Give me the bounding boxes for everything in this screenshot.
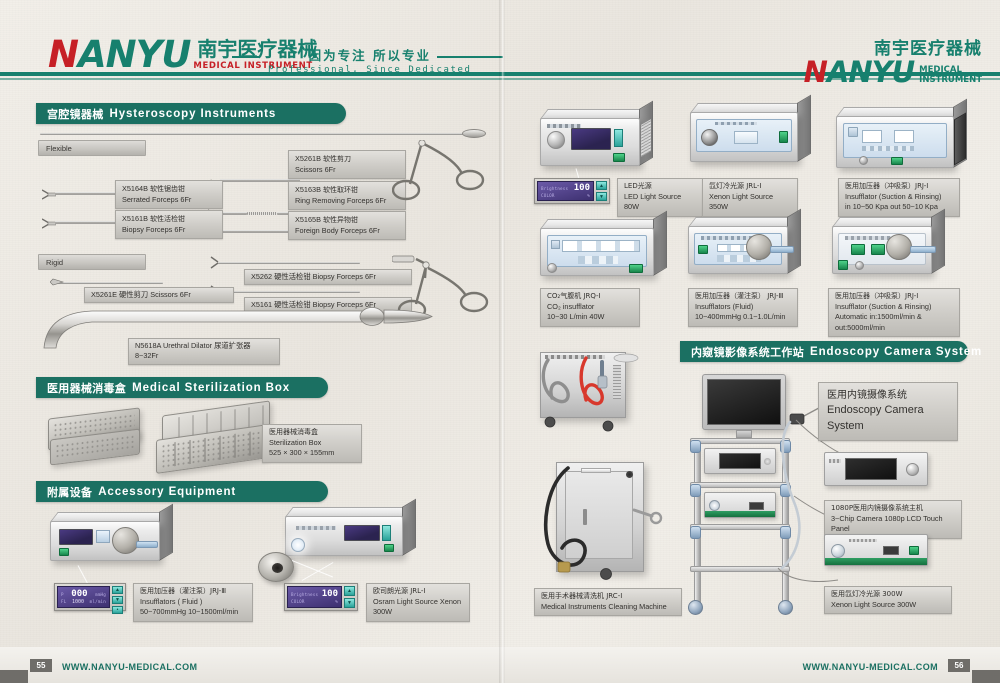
label-x5163b-cn: 软性取环钳 bbox=[323, 186, 358, 194]
page-spine bbox=[499, 0, 505, 683]
display-fluid-line2: FL 1000 ml/min bbox=[61, 599, 106, 605]
section-camera-cn: 内窥镜影像系统工作站 bbox=[691, 344, 804, 360]
unit-fluid-insufflator-keypad bbox=[96, 530, 110, 543]
label-x5164b-code: X5164B bbox=[122, 184, 148, 193]
brand-wordmark-n: N bbox=[48, 33, 78, 76]
label-x5163b: X5163B 软性取环钳 Ring Removing Forceps 6Fr bbox=[288, 181, 406, 210]
label-sterilization-box: 医用器械消毒盒 Sterilization Box 525 × 300 × 15… bbox=[262, 424, 362, 463]
trolley-clamp-1l bbox=[690, 440, 701, 453]
trolley-ccu-screen bbox=[719, 453, 761, 469]
section-accessory-cn: 附属设备 bbox=[47, 484, 92, 500]
rigid-scissors-tip-icon bbox=[50, 277, 64, 288]
label-led-light-source: LED光源 LED Light Source 80W bbox=[617, 178, 709, 217]
label-n5618a: N5618A Urethral Dilator 尿道扩张器 8~32Fr bbox=[128, 338, 280, 365]
brand-slogan: 因为专注 所以专业 Professional, Since Dedicated bbox=[268, 45, 472, 75]
forceps-jaw-icon bbox=[42, 189, 56, 201]
label-x5161b-cn: 软性活检钳 bbox=[150, 215, 185, 223]
display-fluid-key-down[interactable]: ▼ bbox=[112, 596, 123, 604]
product-xenon-branding bbox=[849, 539, 877, 542]
footer-bar-left bbox=[0, 670, 28, 683]
display-fluid-insufflator: P 000 mmHg FL 1000 ml/min ▲ ▼ • bbox=[54, 583, 126, 611]
label-fluid-insufflator-2: 医用加压器（灌注泵） JRJ-Ⅲ Insufflators (Fluid) 10… bbox=[688, 288, 798, 327]
label-x5261b-code: X5261B bbox=[295, 154, 321, 163]
flexible-instrument-tip bbox=[462, 129, 486, 138]
unit-osram-screen bbox=[344, 525, 380, 541]
unit-co2-insufflator bbox=[540, 228, 654, 276]
flexible-instrument-shaft bbox=[40, 133, 470, 135]
label-x5161b: X5161B 软性活检钳 Biopsy Forceps 6Fr bbox=[115, 210, 223, 239]
unit-insuff1-rear-panel bbox=[954, 113, 966, 166]
display-fluid-unit1: mmHg bbox=[95, 592, 106, 597]
group-tag-flexible: Flexible bbox=[38, 140, 146, 156]
slogan-dash-left bbox=[232, 56, 260, 58]
label-cleaning-machine: 医用手术器械清洗机 JRC-Ⅰ Medical Instruments Clea… bbox=[534, 588, 682, 616]
label-x5164b: X5164B 软性锯齿钳 Serrated Forceps 6Fr bbox=[115, 180, 223, 209]
label-fluid-insufflator-spec: 50~700mmHg 10~1500ml/min bbox=[140, 607, 246, 617]
label-camera-system-en: Endoscopy Camera System bbox=[827, 403, 949, 434]
display-osram-label1: Brightness bbox=[291, 592, 318, 597]
label-x5165b-code: X5165B bbox=[295, 215, 321, 224]
unit-osram-power-button[interactable] bbox=[384, 544, 394, 552]
trolley-monitor-stand bbox=[736, 430, 752, 438]
unit-led-keypad[interactable] bbox=[614, 129, 623, 147]
unit-xenon-side bbox=[797, 95, 811, 162]
label-cleaning-machine-cn: 医用手术器械清洗机 JRC-Ⅰ bbox=[541, 592, 675, 602]
label-x5165b-line2: Foreign Body Forceps 6Fr bbox=[295, 226, 399, 236]
label-co2-en: CO₂ insufflator bbox=[547, 302, 633, 312]
unit-co2-power-button[interactable] bbox=[629, 264, 643, 273]
light-guide-lens-aperture bbox=[272, 563, 283, 573]
unit-insufflator-suction-rinsing-1 bbox=[836, 116, 954, 168]
footer-url-left[interactable]: WWW.NANYU-MEDICAL.COM bbox=[62, 662, 197, 672]
label-fluid2-en: Insufflators (Fluid) bbox=[695, 302, 791, 312]
unit-insuff2-tube-connector bbox=[910, 246, 936, 253]
display-fluid-keypad[interactable]: ▲ ▼ • bbox=[112, 586, 123, 608]
product-camera-control-unit bbox=[824, 452, 928, 486]
sterilization-box-perforation-base bbox=[55, 434, 135, 460]
trolley-light-source-port bbox=[709, 500, 720, 511]
unit-fluid-insufflator-2 bbox=[688, 226, 788, 274]
brand-medical-instrument-right: MEDICAL INSTRUMENT bbox=[919, 66, 982, 86]
unit-xenon-light-source bbox=[690, 112, 798, 162]
label-x5261b: X5261B 软性剪刀 Scissors 6Fr bbox=[288, 150, 406, 179]
page-number-left: 55 bbox=[30, 659, 52, 672]
unit-insuff1-button-row[interactable] bbox=[862, 146, 914, 151]
display-osram-key-down[interactable]: ▼ bbox=[344, 598, 355, 608]
label-insuff1-en: Insufflator (Suction & Rinsing) bbox=[845, 192, 953, 202]
label-x5261b-line1: X5261B 软性剪刀 bbox=[295, 154, 399, 165]
unit-fluid2-indicator bbox=[698, 245, 708, 254]
section-header-accessory: 附属设备 Accessory Equipment bbox=[36, 481, 328, 502]
rigid-scissors-shaft bbox=[58, 282, 163, 284]
label-x5161b-line1: X5161B 软性活检钳 bbox=[122, 214, 216, 225]
rigid-biopsy-shaft-b bbox=[218, 291, 360, 293]
label-xenon-en: Xenon Light Source bbox=[709, 192, 791, 202]
display-osram-screen: Brightness 100 COLOR % bbox=[287, 586, 342, 608]
label-co2-spec: 10~30 L/min 40W bbox=[547, 312, 633, 322]
unit-insuff2-port bbox=[855, 261, 864, 270]
unit-insuff1-face bbox=[843, 123, 947, 158]
display-osram-line2: COLOR % bbox=[291, 599, 338, 604]
display-fluid-value2: 1000 bbox=[72, 599, 84, 605]
unit-fluid-insufflator-side bbox=[159, 504, 173, 561]
brand-wordmark: NANYU bbox=[48, 38, 190, 71]
label-x5164b-cn: 软性锯齿钳 bbox=[150, 185, 185, 193]
unit-insuff2-readout-b bbox=[871, 244, 885, 255]
product-xenon-light-port bbox=[831, 544, 845, 558]
label-osram-cn: 欧司朗光源 JRL-Ⅰ bbox=[373, 587, 463, 597]
biopsy-forceps-jaw bbox=[42, 217, 55, 228]
unit-osram-branding-strip bbox=[296, 526, 336, 530]
unit-xenon-light-port bbox=[701, 129, 718, 146]
slogan-dash-right bbox=[437, 56, 503, 58]
unit-co2-face bbox=[547, 235, 648, 267]
unit-insuff2-readout-a bbox=[851, 244, 865, 255]
display-led-keypad[interactable]: ▲ ▼ bbox=[596, 181, 607, 201]
section-header-sterilization: 医用器械消毒盒 Medical Sterilization Box bbox=[36, 377, 328, 398]
label-xenon-light-source: 氙灯冷光源 JRL-Ⅰ Xenon Light Source 350W bbox=[702, 178, 798, 217]
label-sterilization-en: Sterilization Box bbox=[269, 438, 355, 448]
unit-insuff1-body bbox=[836, 116, 954, 168]
label-sterilization-spec: 525 × 300 × 155mm bbox=[269, 448, 355, 458]
unit-fluid2-pump-head bbox=[746, 234, 772, 260]
unit-insuff2-side bbox=[931, 209, 945, 274]
display-led-key-up[interactable]: ▲ bbox=[596, 181, 607, 190]
rigid-biopsy-shaft-a bbox=[218, 262, 360, 264]
product-ccu-branding bbox=[829, 459, 841, 463]
unit-insuff2-branding-strip bbox=[845, 236, 891, 240]
label-led-spec: 80W bbox=[624, 202, 702, 212]
unit-fluid-insufflator-power-button[interactable] bbox=[59, 548, 69, 556]
unit-led-screen bbox=[571, 128, 611, 150]
label-led-cn: LED光源 bbox=[624, 182, 702, 192]
label-camera-system-cn: 医用内镜摄像系统 bbox=[827, 389, 949, 403]
unit-co2-readout-row bbox=[562, 240, 640, 252]
display-led-value1: 100 bbox=[574, 184, 590, 193]
unit-led-branding-strip bbox=[547, 124, 581, 128]
ring-forceps-shaft-a bbox=[221, 212, 247, 215]
section-camera-en: Endoscopy Camera System bbox=[810, 346, 982, 358]
rigid-biopsy-jaw-a-icon bbox=[210, 256, 224, 269]
label-x5262: X5262 硬性活检钳 Biopsy Forceps 6Fr bbox=[244, 269, 412, 285]
unit-insufflator-suction-rinsing-2 bbox=[832, 226, 932, 274]
label-fluid-insufflator-en: Insufflators ( Fluid ) bbox=[140, 597, 246, 607]
unit-co2-body bbox=[540, 228, 654, 276]
display-led-line1: Brightness 100 bbox=[541, 184, 590, 193]
product-ccu-screen bbox=[845, 458, 897, 480]
section-hysteroscopy-en: Hysteroscopy Instruments bbox=[110, 108, 277, 120]
label-x5163b-line1: X5163B 软性取环钳 bbox=[295, 185, 399, 196]
label-insuff1-spec: in 10~50 Kpa out 50~10 Kpa bbox=[845, 202, 953, 212]
display-fluid-unit2: ml/min bbox=[90, 599, 106, 604]
label-x5261b-cn: 软性剪刀 bbox=[323, 155, 351, 163]
unit-fluid-insufflator-pump-head bbox=[112, 527, 139, 554]
label-3chip-en: 3~Chip Camera 1080p LCD Touch Panel bbox=[831, 514, 955, 535]
unit-xenon-power-button[interactable] bbox=[779, 131, 788, 143]
unit-fluid2-side bbox=[787, 209, 801, 274]
label-x5261b-line2: Scissors 6Fr bbox=[295, 165, 399, 175]
label-cleaning-machine-en: Medical Instruments Cleaning Machine bbox=[541, 602, 675, 612]
unit-insuff2-power-button[interactable] bbox=[838, 260, 848, 270]
brand-wordmark-right-rest: ANYU bbox=[827, 55, 914, 89]
display-fluid-insufflator-screen: P 000 mmHg FL 1000 ml/min bbox=[57, 586, 110, 608]
product-xenon-power-button[interactable] bbox=[909, 546, 919, 555]
unit-led-body bbox=[540, 118, 640, 166]
trolley-caster-left bbox=[688, 600, 703, 615]
serrated-forceps-jaw bbox=[42, 188, 55, 199]
label-x5165b-line1: X5165B 软性异物钳 bbox=[295, 215, 399, 226]
brand-logo-right: 南宇医疗器械 NANYU MEDICAL INSTRUMENT bbox=[804, 34, 982, 86]
label-x5165b-cn: 软性异物钳 bbox=[323, 216, 358, 224]
label-insuff2-spec: Automatic in:1500ml/min & out:5000ml/min bbox=[835, 312, 953, 333]
label-fluid2-spec: 10~400mmHg 0.1~1.0L/min bbox=[695, 312, 791, 322]
trolley-clamp-3l bbox=[690, 526, 701, 539]
display-fluid-line1: P 000 mmHg bbox=[61, 590, 106, 599]
display-osram-value1: 100 bbox=[322, 590, 338, 599]
unit-co2-gas-port bbox=[547, 263, 557, 273]
product-xenon-light-source bbox=[824, 534, 928, 566]
display-osram: Brightness 100 COLOR % ▲ ▼ bbox=[284, 583, 358, 611]
unit-xenon-body bbox=[690, 112, 798, 162]
display-fluid-label2: FL bbox=[61, 599, 66, 604]
mi-line-2: INSTRUMENT bbox=[919, 76, 982, 86]
unit-led-power-button[interactable] bbox=[613, 153, 625, 162]
brand-wordmark-right-n: N bbox=[804, 55, 827, 89]
display-led-label2: COLOR bbox=[541, 193, 555, 198]
brand-wordmark-rest: ANYU bbox=[78, 33, 190, 76]
display-osram-keypad[interactable]: ▲ ▼ bbox=[344, 586, 355, 608]
section-hysteroscopy-cn: 宫腔镜器械 bbox=[47, 106, 104, 122]
display-led-key-down[interactable]: ▼ bbox=[596, 192, 607, 201]
product-xenon-strip bbox=[825, 558, 927, 565]
section-sterilization-cn: 医用器械消毒盒 bbox=[47, 380, 126, 396]
unit-led-vents bbox=[641, 119, 651, 157]
unit-xenon-branding-strip bbox=[715, 122, 757, 125]
unit-insuff1-logo-badge bbox=[848, 127, 858, 137]
footer-bar-right bbox=[972, 670, 1000, 683]
label-x5163b-code: X5163B bbox=[295, 185, 321, 194]
unit-fluid-insufflator bbox=[50, 521, 160, 561]
unit-insuff1-port bbox=[859, 156, 868, 165]
label-xenon-cn: 氙灯冷光源 JRL-Ⅰ bbox=[709, 182, 791, 192]
label-3chip-camera: 1080P医用内镜摄像系统主机 3~Chip Camera 1080p LCD … bbox=[824, 500, 962, 539]
display-fluid-key-up[interactable]: ▲ bbox=[112, 586, 123, 594]
section-header-camera-system: 内窥镜影像系统工作站 Endoscopy Camera System bbox=[680, 341, 968, 362]
biopsy-jaw-icon bbox=[42, 218, 56, 230]
brand-wordmark-right: NANYU bbox=[804, 59, 915, 86]
label-insufflator-suction-rinsing-2: 医用加压器（冲吸泵）JRJ-Ⅰ Insufflator (Suction & R… bbox=[828, 288, 960, 337]
label-fluid-insufflator: 医用加压器（灌注泵）JRJ-Ⅲ Insufflators ( Fluid ) 5… bbox=[133, 583, 253, 622]
forceps-handle-upper-icon bbox=[392, 140, 504, 210]
unit-osram-side bbox=[402, 499, 416, 556]
label-insuff2-cn: 医用加压器（冲吸泵）JRJ-Ⅰ bbox=[835, 292, 953, 302]
unit-insuff1-readout-a bbox=[862, 130, 882, 143]
label-endoscopy-camera-system: 医用内镜摄像系统 Endoscopy Camera System bbox=[818, 382, 958, 441]
display-fluid-value1: 000 bbox=[71, 590, 87, 599]
product-xenon-display bbox=[883, 546, 899, 555]
label-co2-cn: CO₂气腹机 JRQ-Ⅰ bbox=[547, 292, 633, 302]
slogan-chinese: 因为专注 所以专业 bbox=[268, 45, 472, 64]
unit-osram-keypad[interactable] bbox=[382, 525, 391, 541]
cleaning-machine-open-casters-icon bbox=[536, 412, 632, 434]
trolley-caster-right bbox=[778, 600, 793, 615]
cleaning-machine-closed-hose-icon bbox=[534, 462, 664, 592]
label-fluid-insufflator-cn: 医用加压器（灌注泵）JRJ-Ⅲ bbox=[140, 587, 246, 597]
label-x5164b-line1: X5164B 软性锯齿钳 bbox=[122, 184, 216, 195]
display-led-light-source: Brightness 100 COLOR % ▲ ▼ bbox=[534, 178, 610, 204]
label-x5164b-line2: Serrated Forceps 6Fr bbox=[122, 195, 216, 205]
section-sterilization-en: Medical Sterilization Box bbox=[132, 382, 290, 394]
ring-forceps-coil bbox=[247, 212, 277, 215]
light-guide-lens bbox=[258, 552, 294, 582]
label-x5161b-line2: Biopsy Forceps 6Fr bbox=[122, 225, 216, 235]
display-fluid-key-enter[interactable]: • bbox=[112, 606, 123, 614]
label-xenon300-en: Xenon Light Source 300W bbox=[831, 600, 945, 610]
label-led-en: LED Light Source bbox=[624, 192, 702, 202]
label-xenon-300w: 医用氙灯冷光源 300W Xenon Light Source 300W bbox=[824, 586, 952, 614]
unit-fluid-insufflator-screen bbox=[59, 529, 93, 545]
trolley-clamp-2l bbox=[690, 484, 701, 497]
unit-xenon-control-panel[interactable] bbox=[734, 131, 758, 144]
section-accessory-en: Accessory Equipment bbox=[98, 486, 236, 498]
display-led-label1: Brightness bbox=[541, 186, 568, 191]
label-sterilization-cn: 医用器械消毒盒 bbox=[269, 428, 355, 438]
display-led-unit1: % bbox=[587, 193, 590, 198]
label-3chip-cn: 1080P医用内镜摄像系统主机 bbox=[831, 504, 955, 514]
label-insuff1-cn: 医用加压器（冲吸泵）JRJ-Ⅰ bbox=[845, 182, 953, 192]
group-tag-rigid: Rigid bbox=[38, 254, 146, 270]
display-fluid-label1: P bbox=[61, 592, 64, 597]
label-osram-en: Osram Light Source Xenon bbox=[373, 597, 463, 607]
unit-led-knob[interactable] bbox=[547, 131, 565, 149]
label-insuff2-en: Insufflator (Suction & Rinsing) bbox=[835, 302, 953, 312]
unit-insuff1-readout-b bbox=[894, 130, 914, 143]
display-led-screen: Brightness 100 COLOR % bbox=[537, 181, 594, 201]
unit-led-light-source bbox=[540, 118, 640, 166]
unit-osram-light-port bbox=[291, 538, 305, 552]
label-x5163b-line2: Ring Removing Forceps 6Fr bbox=[295, 196, 399, 206]
label-xenon-spec: 350W bbox=[709, 202, 791, 212]
label-osram-light-source: 欧司朗光源 JRL-Ⅰ Osram Light Source Xenon 300… bbox=[366, 583, 470, 622]
unit-osram-light-source bbox=[285, 516, 403, 556]
unit-fluid-insufflator-tube-connector bbox=[136, 541, 158, 548]
unit-fluid2-tube-connector bbox=[770, 246, 794, 253]
display-osram-key-up[interactable]: ▲ bbox=[344, 586, 355, 596]
unit-xenon-face bbox=[696, 119, 791, 153]
page-number-right: 56 bbox=[948, 659, 970, 672]
label-x5165b: X5165B 软性异物钳 Foreign Body Forceps 6Fr bbox=[288, 211, 406, 240]
display-osram-label2: COLOR bbox=[291, 599, 305, 604]
display-osram-line1: Brightness 100 bbox=[291, 590, 338, 599]
display-osram-unit1: % bbox=[335, 599, 338, 604]
section-header-hysteroscopy: 宫腔镜器械 Hysteroscopy Instruments bbox=[36, 103, 346, 124]
slogan-english: Professional, Since Dedicated bbox=[268, 65, 472, 75]
unit-co2-side bbox=[653, 211, 667, 276]
unit-co2-logo-badge bbox=[551, 240, 560, 249]
display-led-line2: COLOR % bbox=[541, 193, 590, 198]
unit-insuff1-power-button[interactable] bbox=[891, 157, 903, 165]
label-osram-spec: 300W bbox=[373, 607, 463, 617]
product-ccu-port bbox=[906, 463, 919, 476]
unit-insuff2-pump-head bbox=[886, 234, 912, 260]
label-co2-insufflator: CO₂气腹机 JRQ-Ⅰ CO₂ insufflator 10~30 L/min… bbox=[540, 288, 640, 327]
footer-url-right[interactable]: WWW.NANYU-MEDICAL.COM bbox=[803, 662, 938, 672]
label-xenon300-cn: 医用氙灯冷光源 300W bbox=[831, 590, 945, 600]
label-x5161b-code: X5161B bbox=[122, 214, 148, 223]
label-fluid2-cn: 医用加压器（灌注泵） JRJ-Ⅲ bbox=[695, 292, 791, 302]
unit-co2-button-row[interactable] bbox=[578, 256, 618, 264]
